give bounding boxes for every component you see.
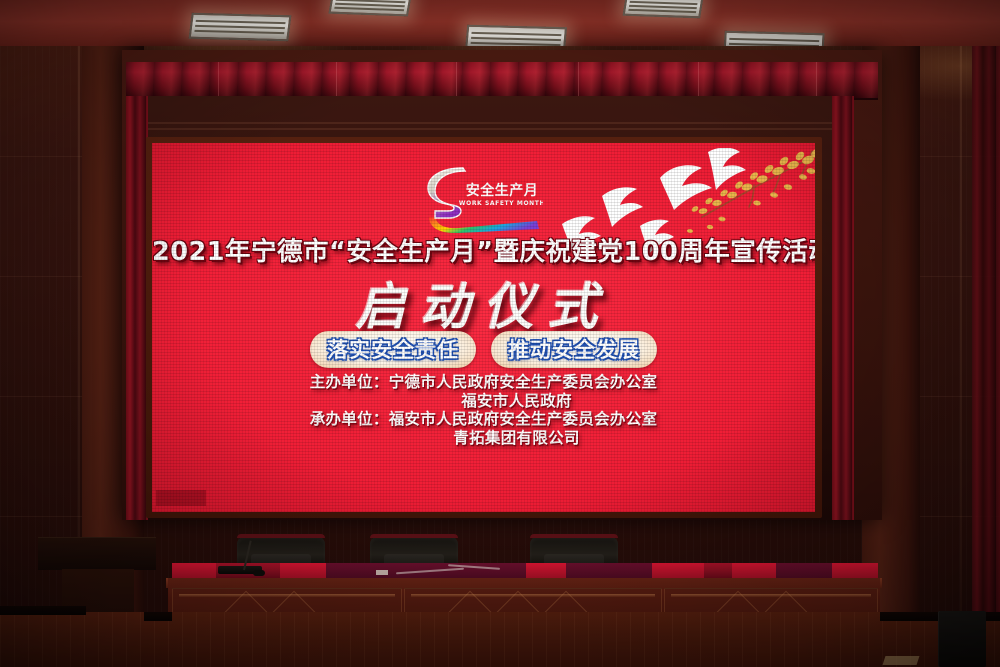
table-namecard — [376, 570, 388, 575]
slogan-pill-1: 落实安全责任 — [310, 331, 476, 368]
screen-headline: 2021年宁德市“安全生产月”暨庆祝建党100周年宣传活动 — [152, 231, 815, 268]
screen-calligraphy-title: 启动仪式 — [152, 267, 815, 339]
floor-paper — [883, 656, 920, 665]
svg-text:安全生产月: 安全生产月 — [465, 182, 538, 199]
ceiling-light-4 — [623, 0, 704, 18]
stage-curtain-left — [126, 96, 148, 520]
floor-loudspeaker — [938, 611, 986, 667]
microphone-head-1 — [253, 570, 265, 576]
curtain-valance — [126, 62, 878, 100]
svg-text:WORK SAFETY MONTH: WORK SAFETY MONTH — [458, 200, 542, 207]
golden-blossom-branch-icon — [662, 143, 815, 238]
credit-line-host-1: 主办单位：宁德市人民政府安全生产委员会办公室 — [152, 373, 815, 392]
slogan-text-2: 推动安全发展 — [508, 338, 640, 362]
credit-line-organizer-1: 承办单位：福安市人民政府安全生产委员会办公室 — [152, 410, 815, 429]
podium-lectern-top — [38, 537, 156, 570]
slogan-text-1: 落实安全责任 — [327, 338, 459, 362]
ceiling-light-5 — [328, 0, 411, 16]
led-screen[interactable]: 安全生产月 WORK SAFETY MONTH 2021年宁德市“安全生产月”暨… — [152, 143, 815, 512]
organizer-credits: 主办单位：宁德市人民政府安全生产委员会办公室 福安市人民政府 承办单位：福安市人… — [152, 373, 815, 447]
baseboard-mid — [144, 612, 172, 621]
credit-line-host-2: 福安市人民政府 — [152, 392, 815, 411]
work-safety-month-logo: 安全生产月 WORK SAFETY MONTH — [425, 167, 543, 233]
baseboard-left — [0, 606, 86, 615]
scene-root: 安全生产月 WORK SAFETY MONTH 2021年宁德市“安全生产月”暨… — [0, 0, 1000, 667]
ceiling-light-1 — [189, 13, 292, 42]
led-corner-block — [156, 490, 206, 506]
stage-curtain-right — [832, 96, 854, 520]
credit-line-organizer-2: 青拓集团有限公司 — [152, 429, 815, 448]
slogan-pill-2: 推动安全发展 — [491, 331, 657, 368]
side-curtain-right — [972, 46, 1000, 646]
slogan-row: 落实安全责任 推动安全发展 — [152, 331, 815, 368]
